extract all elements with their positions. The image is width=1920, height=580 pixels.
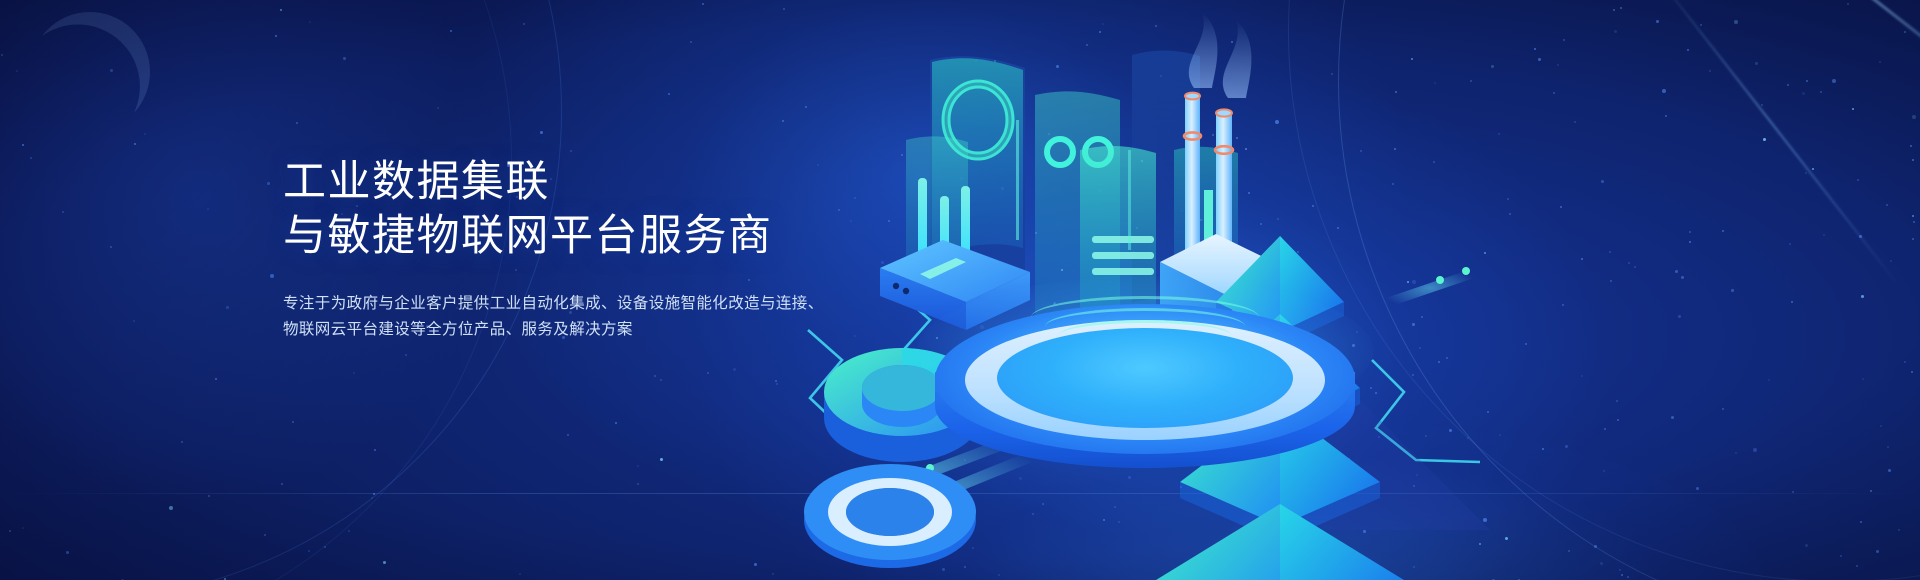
central-disc-platform — [935, 276, 1355, 506]
page-title: 工业数据集联 与敏捷物联网平台服务商 — [283, 155, 923, 263]
hero-copy: 工业数据集联 与敏捷物联网平台服务商 专注于为政府与企业客户提供工业自动化集成、… — [283, 155, 923, 343]
hero-banner: 工业数据集联 与敏捷物联网平台服务商 专注于为政府与企业客户提供工业自动化集成、… — [0, 0, 1920, 580]
moon-icon — [14, 0, 165, 148]
hero-illustration — [780, 0, 1920, 580]
subtitle-line-1: 专注于为政府与企业客户提供工业自动化集成、设备设施智能化改造与连接、 — [283, 291, 923, 317]
hero-subtitle: 专注于为政府与企业客户提供工业自动化集成、设备设施智能化改造与连接、 物联网云平… — [283, 291, 923, 343]
subtitle-line-2: 物联网云平台建设等全方位产品、服务及解决方案 — [283, 317, 923, 343]
headline-line-1: 工业数据集联 — [283, 155, 923, 209]
disc-scanline-3 — [1059, 320, 1231, 351]
headline-line-2: 与敏捷物联网平台服务商 — [283, 209, 923, 263]
